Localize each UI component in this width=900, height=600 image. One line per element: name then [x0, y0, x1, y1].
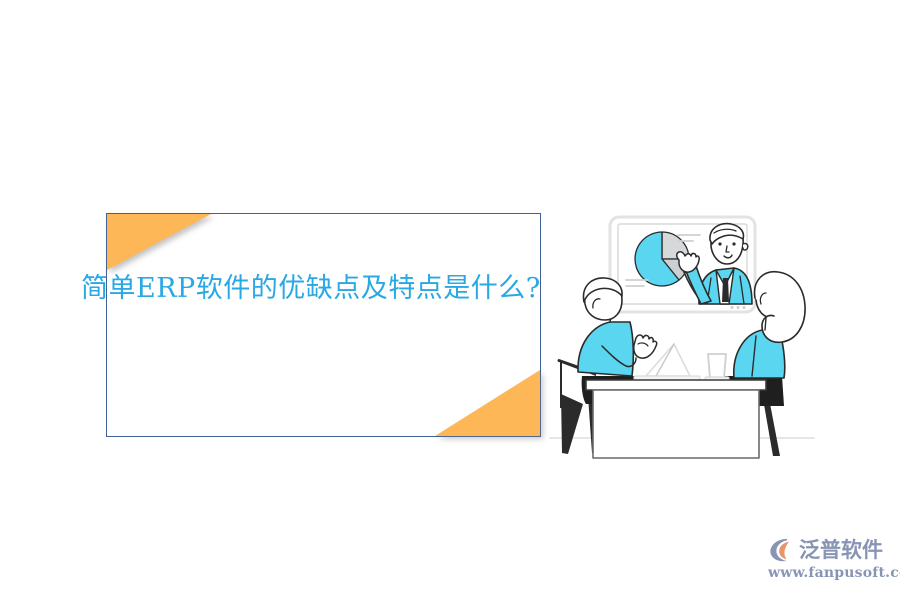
page-title: 简单ERP软件的优缺点及特点是什么?	[81, 272, 601, 306]
brand-url: www.fanpusoft.com	[768, 565, 893, 581]
orange-triangle-bottom-right-icon	[435, 370, 540, 436]
wall-monitor	[610, 217, 755, 312]
brand-logo-row: 泛普软件	[768, 536, 893, 564]
illustration-svg	[548, 208, 816, 476]
banner-card	[106, 213, 541, 437]
brand-name: 泛普软件	[799, 537, 883, 563]
fanpu-logo-mark-icon	[768, 537, 795, 563]
video-conference-illustration	[548, 208, 816, 476]
conference-table	[586, 380, 766, 458]
drinking-glass	[705, 354, 729, 381]
orange-triangle-top-left-icon	[107, 214, 211, 270]
monitor-dots-icon	[731, 306, 746, 309]
brand-logo: 泛普软件 www.fanpusoft.com	[768, 536, 893, 586]
